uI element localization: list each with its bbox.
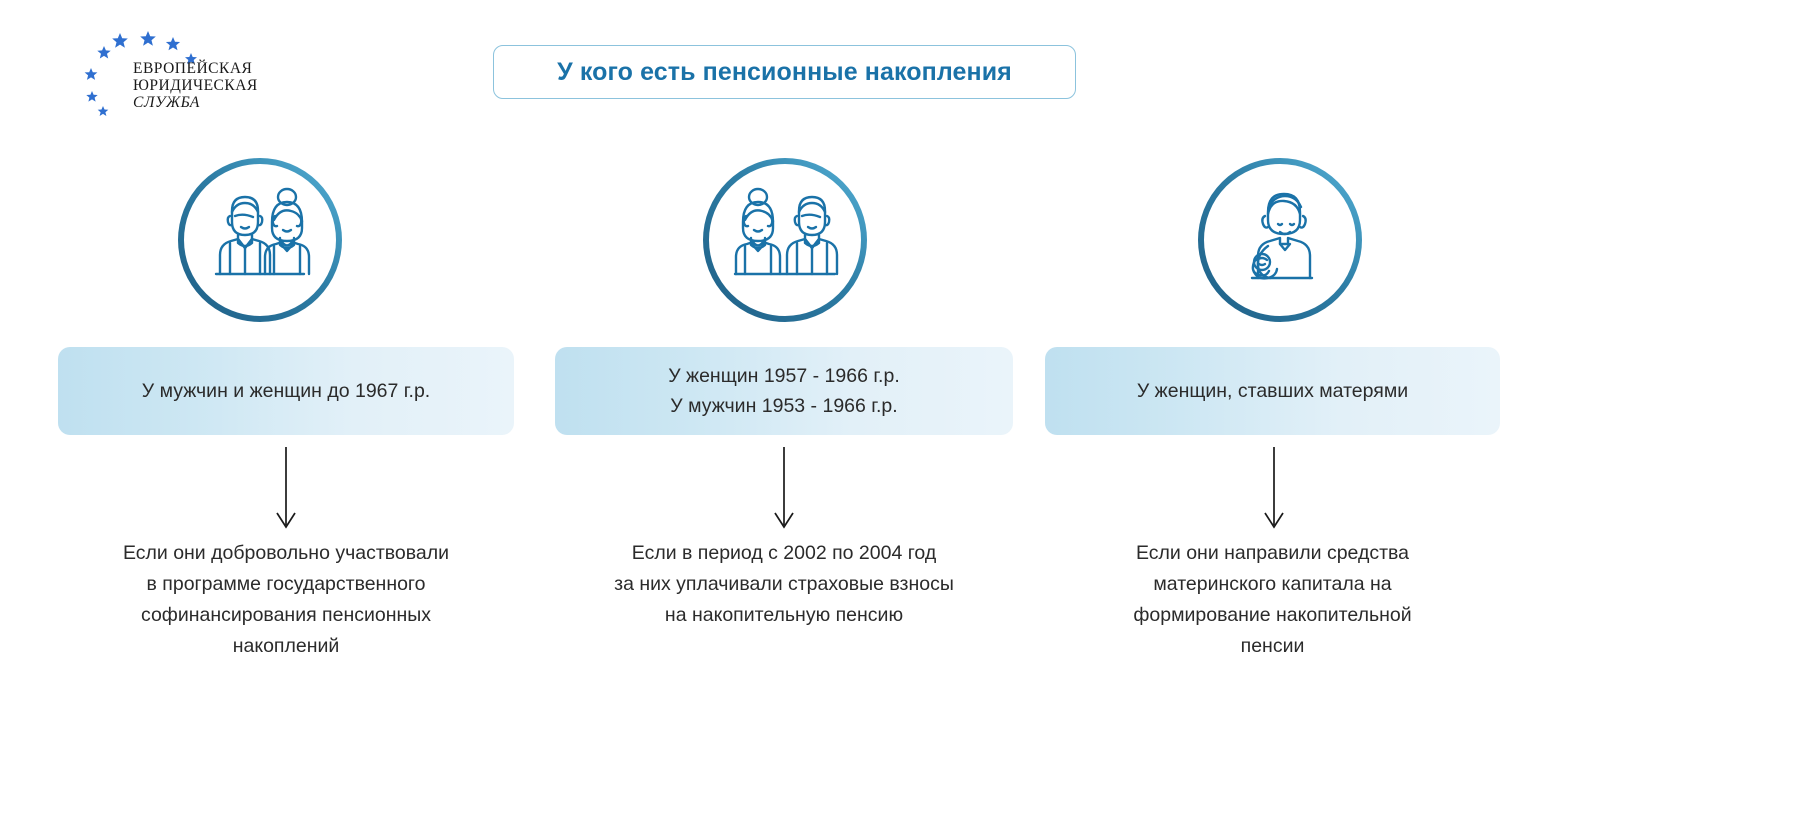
infographic-page: ЕВРОПЕЙСКАЯ ЮРИДИЧЕСКАЯ СЛУЖБА У кого ес… xyxy=(0,0,1800,818)
couple-man-woman-icon xyxy=(170,150,350,330)
caption-1: Если они добровольно участвовали в прогр… xyxy=(58,538,514,662)
caption-3: Если они направили средства материнского… xyxy=(1045,538,1500,662)
info-box-2: У женщин 1957 - 1966 г.р. У мужчин 1953 … xyxy=(555,347,1013,435)
page-title: У кого есть пенсионные накопления xyxy=(557,58,1012,87)
column-3 xyxy=(1000,150,1560,340)
column-1 xyxy=(0,150,540,340)
logo-line-3: СЛУЖБА xyxy=(133,94,258,111)
mother-with-baby-icon xyxy=(1190,150,1370,330)
down-arrow-icon-2 xyxy=(771,447,797,532)
info-box-3: У женщин, ставших матерями xyxy=(1045,347,1500,435)
circle-wrap-3 xyxy=(1000,150,1560,340)
down-arrow-icon-3 xyxy=(1261,447,1287,532)
caption-2: Если в период с 2002 по 2004 год за них … xyxy=(555,538,1013,631)
info-box-2-text: У женщин 1957 - 1966 г.р. У мужчин 1953 … xyxy=(668,361,900,421)
logo-text-block: ЕВРОПЕЙСКАЯ ЮРИДИЧЕСКАЯ СЛУЖБА xyxy=(133,60,258,111)
down-arrow-icon-1 xyxy=(273,447,299,532)
info-box-1-text: У мужчин и женщин до 1967 г.р. xyxy=(142,376,430,406)
page-title-banner: У кого есть пенсионные накопления xyxy=(493,45,1076,99)
column-2 xyxy=(505,150,1065,340)
circle-wrap-1 xyxy=(0,150,540,340)
logo-line-1: ЕВРОПЕЙСКАЯ xyxy=(133,60,258,77)
circle-wrap-2 xyxy=(505,150,1065,340)
logo-line-2: ЮРИДИЧЕСКАЯ xyxy=(133,77,258,94)
woman-man-pair-icon xyxy=(695,150,875,330)
info-box-3-text: У женщин, ставших матерями xyxy=(1137,376,1408,406)
info-box-1: У мужчин и женщин до 1967 г.р. xyxy=(58,347,514,435)
company-logo: ЕВРОПЕЙСКАЯ ЮРИДИЧЕСКАЯ СЛУЖБА xyxy=(58,28,318,120)
